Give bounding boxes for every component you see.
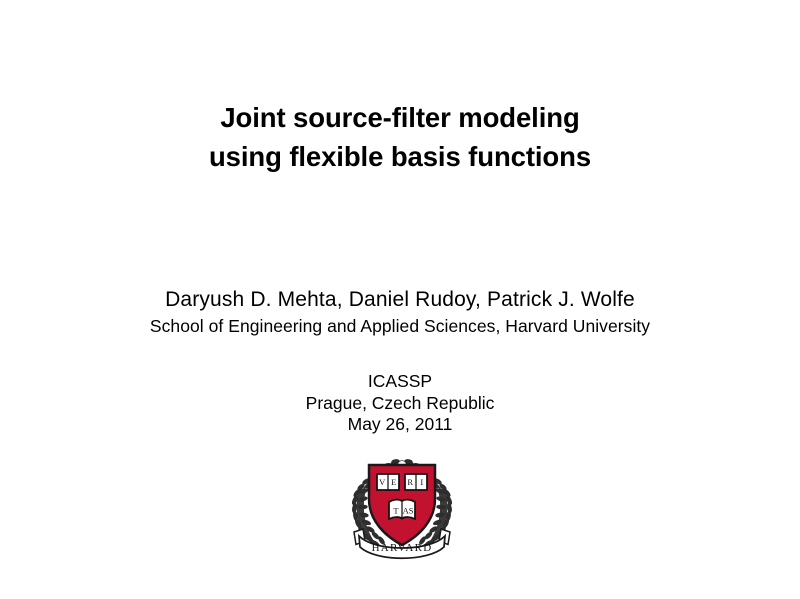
author-block: Daryush D. Mehta, Daniel Rudoy, Patrick … [0, 286, 800, 338]
venue-date: May 26, 2011 [0, 414, 800, 436]
venue-location: Prague, Czech Republic [0, 393, 800, 415]
harvard-seal-logo: V E R I T AS [346, 443, 458, 561]
venue-block: ICASSP Prague, Czech Republic May 26, 20… [0, 371, 800, 436]
book-tas: T AS [389, 500, 415, 519]
title-line-1: Joint source-filter modeling [0, 98, 800, 137]
title-line-2: using flexible basis functions [0, 137, 800, 176]
harvard-banner-text: HARVARD [372, 542, 433, 554]
slide-title: Joint source-filter modeling using flexi… [0, 98, 800, 176]
slide-canvas: Joint source-filter modeling using flexi… [0, 0, 800, 599]
harvard-seal-icon: V E R I T AS [346, 443, 458, 561]
book-ve-letter-1: V [379, 477, 386, 487]
book-ve: V E [377, 474, 399, 490]
book-ri: R I [405, 474, 427, 490]
book-ve-letter-2: E [391, 477, 396, 487]
book-ri-letter-2: I [420, 477, 423, 487]
author-affiliation: School of Engineering and Applied Scienc… [0, 314, 800, 338]
author-names: Daryush D. Mehta, Daniel Rudoy, Patrick … [0, 286, 800, 314]
book-ri-letter-1: R [407, 477, 413, 487]
book-tas-letter-2: AS [403, 506, 414, 516]
book-tas-letter-1: T [393, 506, 399, 516]
venue-conference: ICASSP [0, 371, 800, 393]
